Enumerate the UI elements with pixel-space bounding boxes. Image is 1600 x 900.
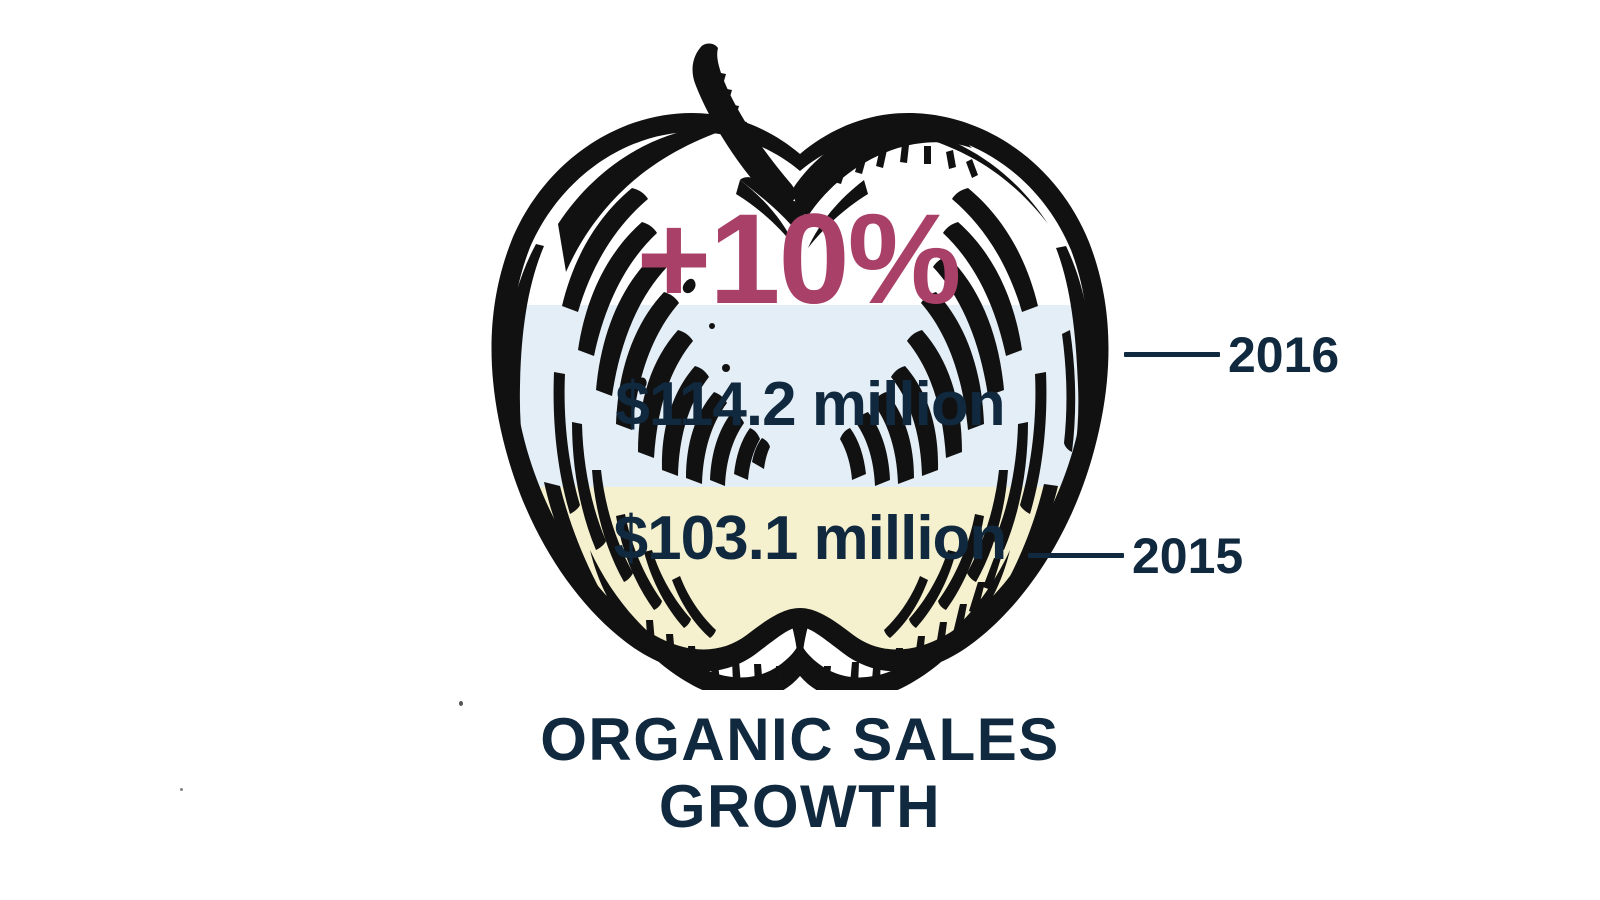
caption-line-1: ORGANIC SALES: [0, 706, 1600, 773]
ink-speck: [180, 788, 183, 791]
apple-illustration: [440, 30, 1160, 690]
growth-percent-headline: +10%: [0, 196, 1598, 324]
infographic-canvas: +10% $114.2 million $103.1 million ORGAN…: [0, 0, 1600, 900]
callout-label-2016: 2016: [1228, 330, 1339, 380]
callout-leader-line-2015: [1028, 553, 1124, 558]
callout-leader-line-2016: [1124, 352, 1220, 357]
value-label-2015: $103.1 million: [10, 508, 1600, 570]
caption-line-2: GROWTH: [0, 773, 1600, 840]
value-label-2016: $114.2 million: [10, 374, 1600, 436]
callout-label-2015: 2015: [1132, 531, 1243, 581]
caption-block: ORGANIC SALES GROWTH: [0, 706, 1600, 840]
ink-speck: [459, 701, 463, 706]
